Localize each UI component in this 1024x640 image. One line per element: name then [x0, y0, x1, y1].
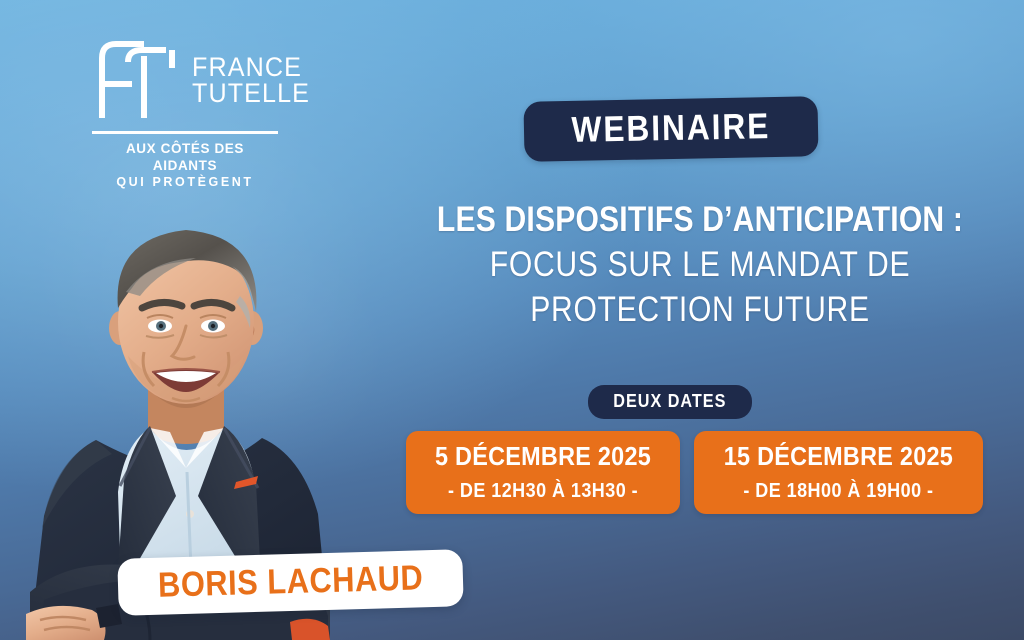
date-card-time: - DE 18H00 À 19H00 -: [724, 480, 953, 502]
title-line-3: PROTECTION FUTURE: [421, 287, 978, 333]
date-card-date: 15 DÉCEMBRE 2025: [724, 442, 953, 471]
ft-monogram-icon: [92, 38, 184, 122]
logo-wordmark: FRANCE TUTELLE: [192, 55, 319, 106]
webinaire-badge-label: WEBINAIRE: [571, 108, 770, 148]
logo-tagline: AUX CÔTÉS DES AIDANTS QUI PROTÈGENT: [92, 141, 278, 190]
logo-top-row: FRANCE TUTELLE: [92, 38, 302, 122]
logo-tagline-line-1: AUX CÔTÉS DES AIDANTS: [92, 141, 278, 175]
title-line-2: FOCUS SUR LE MANDAT DE: [421, 242, 978, 288]
title-line-1: LES DISPOSITIFS D’ANTICIPATION :: [421, 198, 978, 242]
speaker-name: BORIS LACHAUD: [158, 560, 424, 602]
page-title: LES DISPOSITIFS D’ANTICIPATION : FOCUS S…: [376, 198, 1024, 333]
date-card-time: - DE 12H30 À 13H30 -: [435, 480, 651, 502]
dates-list: 5 DÉCEMBRE 2025 - DE 12H30 À 13H30 - 15 …: [406, 431, 983, 514]
deux-dates-badge: DEUX DATES: [588, 385, 752, 419]
speaker-name-badge: BORIS LACHAUD: [117, 549, 464, 616]
deux-dates-badge-label: DEUX DATES: [613, 391, 726, 412]
date-card[interactable]: 15 DÉCEMBRE 2025 - DE 18H00 À 19H00 -: [694, 431, 983, 514]
date-card[interactable]: 5 DÉCEMBRE 2025 - DE 12H30 À 13H30 -: [406, 431, 680, 514]
webinar-poster: FRANCE TUTELLE AUX CÔTÉS DES AIDANTS QUI…: [0, 0, 1024, 640]
logo-tagline-line-2: QUI PROTÈGENT: [92, 175, 278, 191]
france-tutelle-logo: FRANCE TUTELLE AUX CÔTÉS DES AIDANTS QUI…: [92, 38, 302, 190]
poster-content: WEBINAIRE LES DISPOSITIFS D’ANTICIPATION…: [376, 0, 1024, 640]
date-card-date: 5 DÉCEMBRE 2025: [435, 442, 651, 471]
logo-divider: [92, 131, 278, 134]
logo-line-2: TUTELLE: [192, 81, 310, 107]
webinaire-badge: WEBINAIRE: [523, 96, 818, 162]
